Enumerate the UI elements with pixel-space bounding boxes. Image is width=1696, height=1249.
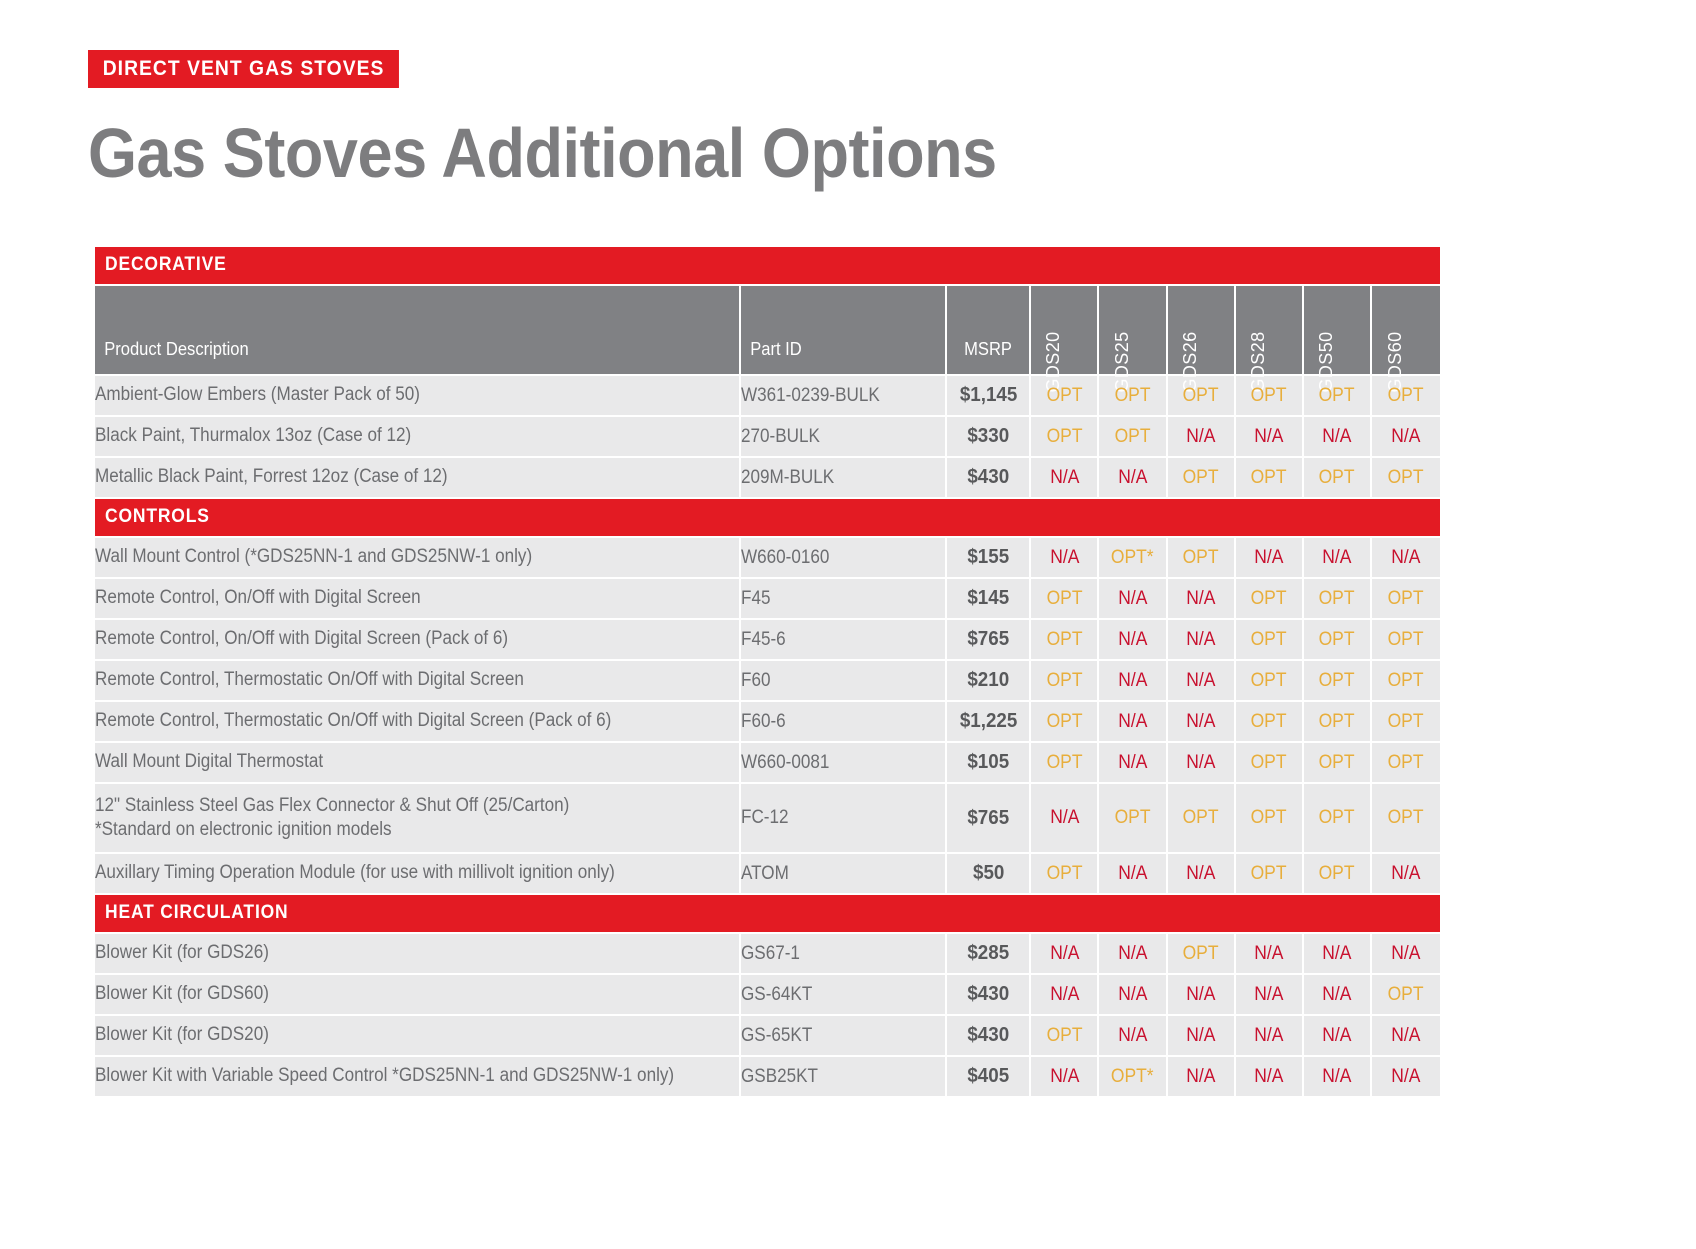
cell-availability-gds60: OPT [1372, 458, 1440, 499]
cell-msrp: $50 [947, 854, 1031, 895]
column-header-part-id: Part ID [741, 286, 947, 376]
cell-availability-gds20: N/A [1031, 1057, 1099, 1098]
cell-availability-gds25: OPT* [1099, 1057, 1167, 1098]
cell-availability-gds25: N/A [1099, 1016, 1167, 1057]
cell-part-id: F60 [741, 661, 947, 702]
eyebrow-badge: DIRECT VENT GAS STOVES [88, 50, 426, 88]
cell-msrp: $155 [947, 538, 1031, 579]
cell-availability-gds25: N/A [1099, 975, 1167, 1016]
cell-availability-gds26: OPT [1168, 376, 1236, 417]
cell-availability-gds20: OPT [1031, 702, 1099, 743]
cell-availability-gds28: N/A [1236, 1057, 1304, 1098]
table-row: Wall Mount Control (*GDS25NN-1 and GDS25… [95, 538, 1440, 579]
cell-availability-gds25: OPT* [1099, 538, 1167, 579]
cell-part-id: F60-6 [741, 702, 947, 743]
cell-product-description: Remote Control, On/Off with Digital Scre… [95, 620, 741, 661]
cell-availability-gds20: OPT [1031, 620, 1099, 661]
cell-msrp: $330 [947, 417, 1031, 458]
cell-availability-gds50: OPT [1304, 784, 1372, 854]
cell-availability-gds50: N/A [1304, 1057, 1372, 1098]
eyebrow-label: DIRECT VENT GAS STOVES [88, 50, 399, 88]
cell-availability-gds28: N/A [1236, 975, 1304, 1016]
section-title: HEAT CIRCULATION [95, 895, 1440, 934]
cell-availability-gds26: N/A [1168, 417, 1236, 458]
cell-msrp: $285 [947, 934, 1031, 975]
cell-availability-gds20: N/A [1031, 784, 1099, 854]
cell-availability-gds25: N/A [1099, 458, 1167, 499]
table-row: Metallic Black Paint, Forrest 12oz (Case… [95, 458, 1440, 499]
cell-availability-gds60: OPT [1372, 661, 1440, 702]
cell-availability-gds26: OPT [1168, 538, 1236, 579]
table-body: DECORATIVEProduct DescriptionPart IDMSRP… [95, 247, 1440, 1098]
cell-product-description: Remote Control, Thermostatic On/Off with… [95, 661, 741, 702]
cell-product-description: Blower Kit (for GDS20) [95, 1016, 741, 1057]
section-title: DECORATIVE [95, 247, 1440, 286]
column-header-model-gds60: GDS60 [1372, 286, 1440, 376]
cell-part-id: W660-0160 [741, 538, 947, 579]
cell-availability-gds50: OPT [1304, 854, 1372, 895]
cell-availability-gds60: OPT [1372, 784, 1440, 854]
cell-part-id: W361-0239-BULK [741, 376, 947, 417]
cell-availability-gds25: OPT [1099, 417, 1167, 458]
cell-availability-gds28: OPT [1236, 458, 1304, 499]
cell-part-id: W660-0081 [741, 743, 947, 784]
cell-availability-gds25: N/A [1099, 854, 1167, 895]
page-title: Gas Stoves Additional Options [88, 118, 997, 188]
cell-availability-gds50: OPT [1304, 458, 1372, 499]
section-title: CONTROLS [95, 499, 1440, 538]
cell-availability-gds60: OPT [1372, 579, 1440, 620]
cell-availability-gds28: N/A [1236, 1016, 1304, 1057]
cell-availability-gds28: OPT [1236, 661, 1304, 702]
table-row: Remote Control, Thermostatic On/Off with… [95, 702, 1440, 743]
cell-availability-gds26: N/A [1168, 975, 1236, 1016]
cell-product-description: Black Paint, Thurmalox 13oz (Case of 12) [95, 417, 741, 458]
cell-part-id: GS-65KT [741, 1016, 947, 1057]
cell-part-id: FC-12 [741, 784, 947, 854]
table-row: Blower Kit (for GDS26)GS67-1$285N/AN/AOP… [95, 934, 1440, 975]
cell-availability-gds25: N/A [1099, 661, 1167, 702]
cell-part-id: 209M-BULK [741, 458, 947, 499]
cell-availability-gds25: OPT [1099, 376, 1167, 417]
cell-availability-gds50: N/A [1304, 1016, 1372, 1057]
table-row: Remote Control, On/Off with Digital Scre… [95, 620, 1440, 661]
table-row: Remote Control, Thermostatic On/Off with… [95, 661, 1440, 702]
cell-availability-gds25: N/A [1099, 620, 1167, 661]
cell-availability-gds60: OPT [1372, 620, 1440, 661]
cell-availability-gds26: OPT [1168, 784, 1236, 854]
cell-availability-gds28: N/A [1236, 934, 1304, 975]
cell-availability-gds60: N/A [1372, 854, 1440, 895]
cell-availability-gds50: OPT [1304, 579, 1372, 620]
cell-availability-gds50: OPT [1304, 376, 1372, 417]
cell-availability-gds28: OPT [1236, 784, 1304, 854]
cell-availability-gds26: N/A [1168, 661, 1236, 702]
cell-availability-gds26: N/A [1168, 1016, 1236, 1057]
cell-msrp: $1,225 [947, 702, 1031, 743]
cell-availability-gds28: OPT [1236, 579, 1304, 620]
cell-availability-gds20: OPT [1031, 579, 1099, 620]
column-header-model-gds20: GDS20 [1031, 286, 1099, 376]
cell-part-id: F45-6 [741, 620, 947, 661]
cell-availability-gds50: N/A [1304, 538, 1372, 579]
column-header-msrp: MSRP [947, 286, 1031, 376]
cell-availability-gds26: N/A [1168, 620, 1236, 661]
cell-availability-gds26: N/A [1168, 854, 1236, 895]
cell-availability-gds28: OPT [1236, 854, 1304, 895]
cell-product-description: Auxillary Timing Operation Module (for u… [95, 854, 741, 895]
cell-availability-gds60: OPT [1372, 743, 1440, 784]
table-row: Remote Control, On/Off with Digital Scre… [95, 579, 1440, 620]
cell-availability-gds28: OPT [1236, 743, 1304, 784]
table-row: Ambient-Glow Embers (Master Pack of 50)W… [95, 376, 1440, 417]
section-banner-0: DECORATIVE [95, 247, 1440, 286]
cell-availability-gds28: OPT [1236, 376, 1304, 417]
cell-availability-gds26: N/A [1168, 579, 1236, 620]
cell-availability-gds60: OPT [1372, 975, 1440, 1016]
cell-product-description: Wall Mount Digital Thermostat [95, 743, 741, 784]
cell-availability-gds20: OPT [1031, 376, 1099, 417]
cell-availability-gds20: N/A [1031, 538, 1099, 579]
cell-availability-gds50: N/A [1304, 934, 1372, 975]
cell-msrp: $430 [947, 1016, 1031, 1057]
cell-availability-gds28: N/A [1236, 538, 1304, 579]
cell-msrp: $145 [947, 579, 1031, 620]
cell-availability-gds26: N/A [1168, 743, 1236, 784]
cell-msrp: $105 [947, 743, 1031, 784]
column-header-model-gds28: GDS28 [1236, 286, 1304, 376]
cell-product-description: Ambient-Glow Embers (Master Pack of 50) [95, 376, 741, 417]
cell-availability-gds20: N/A [1031, 934, 1099, 975]
cell-availability-gds20: OPT [1031, 854, 1099, 895]
cell-msrp: $1,145 [947, 376, 1031, 417]
cell-availability-gds60: N/A [1372, 417, 1440, 458]
cell-product-description: Metallic Black Paint, Forrest 12oz (Case… [95, 458, 741, 499]
table-row: Blower Kit (for GDS20)GS-65KT$430OPTN/AN… [95, 1016, 1440, 1057]
table-row: Auxillary Timing Operation Module (for u… [95, 854, 1440, 895]
cell-availability-gds60: N/A [1372, 1057, 1440, 1098]
cell-msrp: $765 [947, 784, 1031, 854]
cell-availability-gds20: OPT [1031, 743, 1099, 784]
cell-product-description: 12" Stainless Steel Gas Flex Connector &… [95, 784, 741, 854]
cell-availability-gds50: N/A [1304, 975, 1372, 1016]
cell-availability-gds28: N/A [1236, 417, 1304, 458]
cell-availability-gds60: N/A [1372, 934, 1440, 975]
cell-msrp: $430 [947, 975, 1031, 1016]
column-header-model-gds26: GDS26 [1168, 286, 1236, 376]
cell-availability-gds50: OPT [1304, 661, 1372, 702]
cell-availability-gds50: OPT [1304, 743, 1372, 784]
cell-msrp: $430 [947, 458, 1031, 499]
cell-availability-gds25: N/A [1099, 934, 1167, 975]
cell-availability-gds60: N/A [1372, 1016, 1440, 1057]
cell-part-id: GS-64KT [741, 975, 947, 1016]
column-header-row: Product DescriptionPart IDMSRPGDS20GDS25… [95, 286, 1440, 376]
cell-part-id: 270-BULK [741, 417, 947, 458]
column-header-model-gds25: GDS25 [1099, 286, 1167, 376]
table-row: Black Paint, Thurmalox 13oz (Case of 12)… [95, 417, 1440, 458]
cell-availability-gds20: OPT [1031, 661, 1099, 702]
cell-product-description: Blower Kit (for GDS26) [95, 934, 741, 975]
column-header-description: Product Description [95, 286, 741, 376]
cell-availability-gds20: N/A [1031, 975, 1099, 1016]
table-row: Wall Mount Digital ThermostatW660-0081$1… [95, 743, 1440, 784]
cell-availability-gds50: OPT [1304, 702, 1372, 743]
cell-availability-gds60: N/A [1372, 538, 1440, 579]
options-table: DECORATIVEProduct DescriptionPart IDMSRP… [95, 247, 1440, 1098]
cell-availability-gds25: N/A [1099, 702, 1167, 743]
options-table-wrapper: DECORATIVEProduct DescriptionPart IDMSRP… [95, 247, 1440, 1098]
cell-msrp: $210 [947, 661, 1031, 702]
cell-product-description: Blower Kit with Variable Speed Control *… [95, 1057, 741, 1098]
cell-availability-gds20: N/A [1031, 458, 1099, 499]
cell-part-id: GSB25KT [741, 1057, 947, 1098]
cell-msrp: $765 [947, 620, 1031, 661]
cell-part-id: ATOM [741, 854, 947, 895]
section-banner-2: HEAT CIRCULATION [95, 895, 1440, 934]
cell-product-description: Blower Kit (for GDS60) [95, 975, 741, 1016]
cell-availability-gds28: OPT [1236, 620, 1304, 661]
cell-availability-gds28: OPT [1236, 702, 1304, 743]
cell-availability-gds50: OPT [1304, 620, 1372, 661]
cell-product-description: Remote Control, Thermostatic On/Off with… [95, 702, 741, 743]
table-row: 12" Stainless Steel Gas Flex Connector &… [95, 784, 1440, 854]
cell-availability-gds26: N/A [1168, 1057, 1236, 1098]
cell-part-id: GS67-1 [741, 934, 947, 975]
cell-availability-gds26: OPT [1168, 934, 1236, 975]
cell-availability-gds20: OPT [1031, 1016, 1099, 1057]
cell-availability-gds20: OPT [1031, 417, 1099, 458]
cell-availability-gds25: N/A [1099, 579, 1167, 620]
cell-availability-gds26: OPT [1168, 458, 1236, 499]
cell-msrp: $405 [947, 1057, 1031, 1098]
cell-part-id: F45 [741, 579, 947, 620]
cell-availability-gds50: N/A [1304, 417, 1372, 458]
cell-availability-gds25: N/A [1099, 743, 1167, 784]
cell-availability-gds26: N/A [1168, 702, 1236, 743]
table-row: Blower Kit (for GDS60)GS-64KT$430N/AN/AN… [95, 975, 1440, 1016]
cell-availability-gds25: OPT [1099, 784, 1167, 854]
column-header-model-gds50: GDS50 [1304, 286, 1372, 376]
table-row: Blower Kit with Variable Speed Control *… [95, 1057, 1440, 1098]
cell-availability-gds60: OPT [1372, 702, 1440, 743]
section-banner-1: CONTROLS [95, 499, 1440, 538]
document-page: DIRECT VENT GAS STOVES Gas Stoves Additi… [0, 0, 1696, 1249]
cell-product-description: Remote Control, On/Off with Digital Scre… [95, 579, 741, 620]
cell-product-description: Wall Mount Control (*GDS25NN-1 and GDS25… [95, 538, 741, 579]
